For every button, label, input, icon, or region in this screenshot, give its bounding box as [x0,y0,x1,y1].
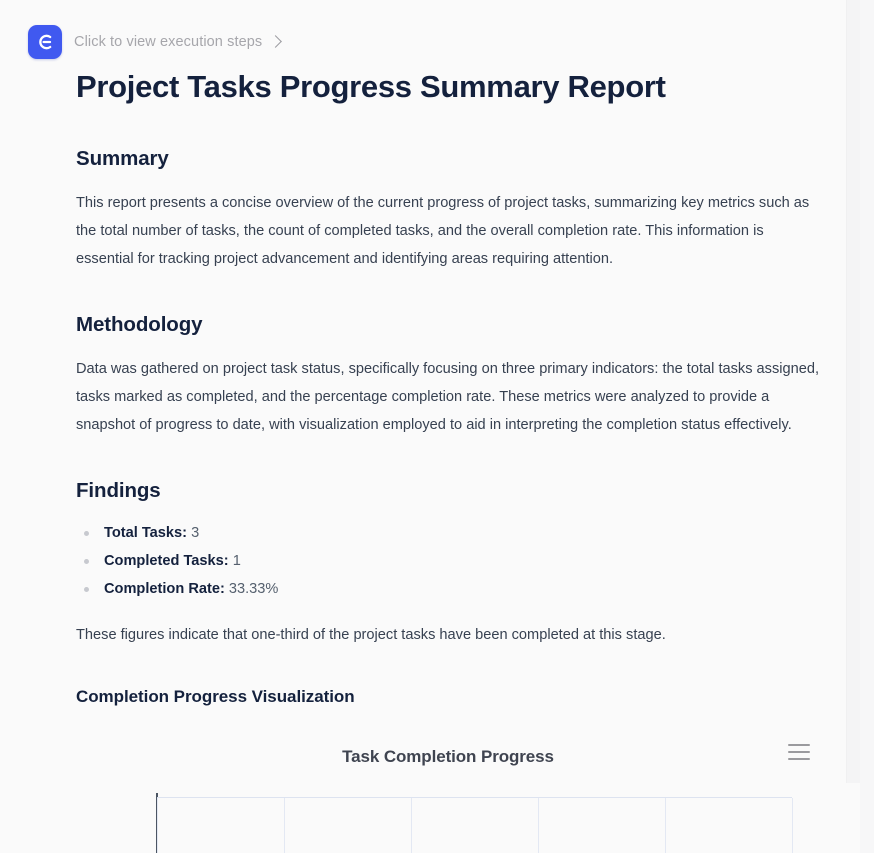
section-heading-visualization: Completion Progress Visualization [76,687,820,707]
section-paragraph-methodology: Data was gathered on project task status… [76,355,820,439]
execution-steps-label: Click to view execution steps [74,34,262,50]
list-item: Completed Tasks: 1 [76,547,820,575]
finding-key: Completion Rate: [104,581,225,597]
chart-gridline [157,798,158,853]
findings-closing-paragraph: These figures indicate that one-third of… [76,621,820,649]
execution-steps-bar: Click to view execution steps [0,0,860,62]
finding-value: 33.33% [229,581,279,597]
chart-gridline [411,798,412,853]
view-execution-steps-link[interactable]: Click to view execution steps [74,34,280,50]
findings-list: Total Tasks: 3 Completed Tasks: 1 Comple… [76,519,820,603]
section-heading-findings: Findings [76,479,820,503]
list-item: Total Tasks: 3 [76,519,820,547]
section-heading-summary: Summary [76,147,820,171]
chart-gridline [792,798,793,853]
chart-gridline [665,798,666,853]
chevron-right-icon [269,35,282,48]
chart-gridline [538,798,539,853]
page-right-gutter [846,0,860,783]
finding-value: 3 [191,525,199,541]
task-completion-chart: Task Completion Progress [76,733,820,853]
menu-bar [788,744,810,747]
epsilon-logo-icon [28,25,62,59]
report-page: Click to view execution steps Project Ta… [0,0,860,853]
document-body: Project Tasks Progress Summary Report Su… [0,68,860,853]
page-title: Project Tasks Progress Summary Report [76,68,820,107]
chart-title: Task Completion Progress [76,733,820,767]
menu-bar [788,751,810,754]
chart-plot-area [157,797,792,853]
finding-key: Completed Tasks: [104,553,229,569]
finding-value: 1 [233,553,241,569]
menu-bar [788,758,810,761]
finding-key: Total Tasks: [104,525,187,541]
list-item: Completion Rate: 33.33% [76,575,820,603]
section-paragraph-summary: This report presents a concise overview … [76,189,820,273]
hamburger-menu-icon[interactable] [786,739,812,765]
section-heading-methodology: Methodology [76,313,820,337]
chart-gridline [284,798,285,853]
